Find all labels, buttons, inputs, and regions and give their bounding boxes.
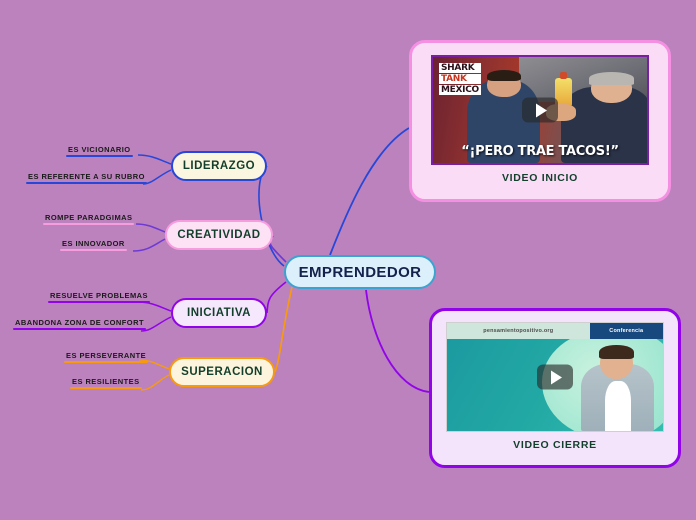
play-icon[interactable] xyxy=(522,98,558,123)
branch-node-creatividad[interactable]: CREATIVIDAD xyxy=(165,220,273,250)
play-triangle xyxy=(551,370,562,384)
leaf-underline xyxy=(66,155,133,157)
link-central-iniciativa xyxy=(267,282,286,313)
thumbnail-topbar: pensamientopositivo.org Conferencia xyxy=(447,323,663,339)
leaf-label: RESUELVE PROBLEMAS xyxy=(48,291,150,301)
logo-line-tank: TANK xyxy=(439,74,481,84)
branch-label-iniciativa: INICIATIVA xyxy=(187,307,251,319)
leaf-underline xyxy=(48,301,150,303)
link-creatividad-leaf-2 xyxy=(133,239,165,251)
central-node-emprendedor[interactable]: EMPRENDEDOR xyxy=(284,255,436,289)
play-triangle xyxy=(536,103,547,117)
leaf-creatividad-1[interactable]: ROMPE PARADGIMAS xyxy=(43,213,134,225)
mindmap-canvas: EMPRENDEDOR LIDERAZGO ES VICIONARIO ES R… xyxy=(0,0,696,520)
branch-label-creatividad: CREATIVIDAD xyxy=(177,229,260,241)
leaf-label: ABANDONA ZONA DE CONFORT xyxy=(13,318,146,328)
link-superacion-leaf-2 xyxy=(141,375,169,390)
link-central-video-cierre xyxy=(366,290,429,392)
branch-node-superacion[interactable]: SUPERACION xyxy=(169,357,275,387)
thumbnail-speaker-hair xyxy=(599,345,634,359)
branch-label-superacion: SUPERACION xyxy=(181,366,263,378)
link-central-video-inicio xyxy=(330,128,409,255)
leaf-underline xyxy=(26,182,147,184)
branch-node-liderazgo[interactable]: LIDERAZGO xyxy=(171,151,267,181)
thumbnail-speaker-shirt xyxy=(605,381,631,431)
leaf-liderazgo-2[interactable]: ES REFERENTE A SU RUBRO xyxy=(26,172,147,184)
branch-node-iniciativa[interactable]: INICIATIVA xyxy=(171,298,267,328)
link-central-liderazgo xyxy=(259,166,284,266)
leaf-underline xyxy=(64,361,148,363)
thumbnail-person-right-hair xyxy=(589,72,634,85)
thumbnail-tag: Conferencia xyxy=(590,323,663,339)
link-central-superacion xyxy=(275,287,292,372)
link-iniciativa-leaf-1 xyxy=(138,302,171,311)
leaf-underline xyxy=(13,328,146,330)
leaf-underline xyxy=(43,223,134,225)
leaf-superacion-2[interactable]: ES RESILIENTES xyxy=(70,377,142,389)
leaf-superacion-1[interactable]: ES PERSEVERANTE xyxy=(64,351,148,363)
logo-line-shark: SHARK xyxy=(439,63,481,73)
leaf-label: ES RESILIENTES xyxy=(70,377,142,387)
link-creatividad-leaf-1 xyxy=(136,224,165,232)
link-liderazgo-leaf-2 xyxy=(143,170,171,184)
shark-tank-logo: SHARK TANK MEXICO xyxy=(439,63,481,95)
leaf-label: ES PERSEVERANTE xyxy=(64,351,148,361)
thumbnail-headline-inicio: “¡PERO TRAE TACOS!” xyxy=(433,144,647,159)
leaf-iniciativa-1[interactable]: RESUELVE PROBLEMAS xyxy=(48,291,150,303)
leaf-label: ES REFERENTE A SU RUBRO xyxy=(26,172,147,182)
leaf-liderazgo-1[interactable]: ES VICIONARIO xyxy=(66,145,133,157)
leaf-underline xyxy=(70,387,142,389)
leaf-iniciativa-2[interactable]: ABANDONA ZONA DE CONFORT xyxy=(13,318,146,330)
video-card-inicio[interactable]: SHARK TANK MEXICO “¡PERO TRAE TACOS!” VI… xyxy=(409,40,671,202)
central-node-label: EMPRENDEDOR xyxy=(299,264,422,281)
video-thumbnail-cierre[interactable]: pensamientopositivo.org Conferencia CONF… xyxy=(446,322,664,432)
leaf-creatividad-2[interactable]: ES INNOVADOR xyxy=(60,239,127,251)
play-icon[interactable] xyxy=(537,365,573,390)
branch-label-liderazgo: LIDERAZGO xyxy=(183,160,255,172)
video-caption-inicio: VIDEO INICIO xyxy=(502,172,578,184)
logo-line-mexico: MEXICO xyxy=(439,85,481,95)
video-card-cierre[interactable]: pensamientopositivo.org Conferencia CONF… xyxy=(429,308,681,468)
thumbnail-person-left-hair xyxy=(487,70,521,82)
leaf-label: ES INNOVADOR xyxy=(60,239,127,249)
link-central-creatividad xyxy=(270,236,286,262)
leaf-underline xyxy=(60,249,127,251)
video-thumbnail-inicio[interactable]: SHARK TANK MEXICO “¡PERO TRAE TACOS!” xyxy=(431,55,649,165)
leaf-label: ROMPE PARADGIMAS xyxy=(43,213,134,223)
video-caption-cierre: VIDEO CIERRE xyxy=(513,439,597,451)
leaf-label: ES VICIONARIO xyxy=(66,145,133,155)
thumbnail-site-url: pensamientopositivo.org xyxy=(447,328,590,334)
link-liderazgo-leaf-1 xyxy=(138,155,171,164)
